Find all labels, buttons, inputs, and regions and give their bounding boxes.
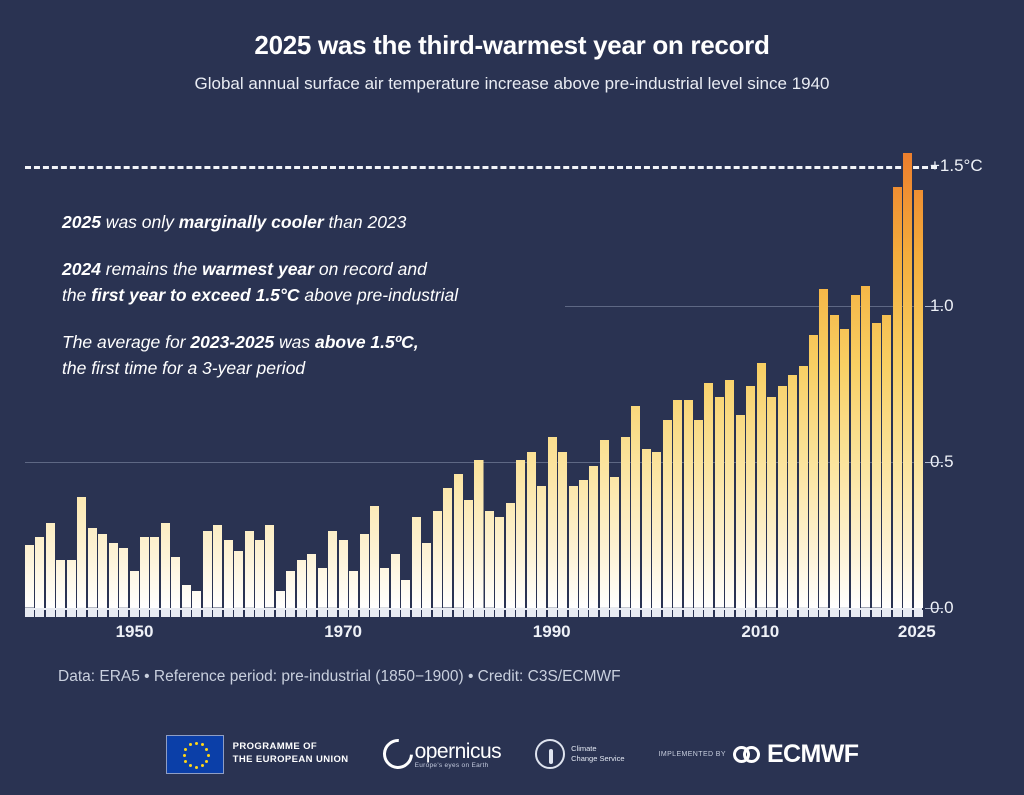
bar-1948 (109, 543, 118, 608)
bar-1993 (579, 480, 588, 608)
bar-1970 (339, 540, 348, 608)
x-tick-1994 (589, 610, 598, 617)
ecmwf-wordmark: ECMWF (767, 740, 858, 769)
bar-2002 (673, 400, 682, 608)
x-tick-1957 (203, 610, 212, 617)
x-tick-2018 (840, 610, 849, 617)
page-title: 2025 was the third-warmest year on recor… (0, 30, 1024, 61)
bar-1987 (516, 460, 525, 608)
x-tick-1940 (25, 610, 34, 617)
bar-2019 (851, 295, 860, 608)
x-tick-1978 (422, 610, 431, 617)
annotation-block: 2025 was only marginally cooler than 202… (62, 210, 582, 381)
x-tick-2014 (799, 610, 808, 617)
bar-1983 (474, 460, 483, 608)
bar-1991 (558, 452, 567, 609)
x-tick-2015 (809, 610, 818, 617)
x-tick-1975 (391, 610, 400, 617)
x-tick-2017 (830, 610, 839, 617)
x-tick-1972 (360, 610, 369, 617)
bar-1947 (98, 534, 107, 608)
bar-2017 (830, 315, 839, 608)
bar-1997 (621, 437, 630, 608)
x-tick-1961 (245, 610, 254, 617)
chart-header: 2025 was the third-warmest year on recor… (0, 0, 1024, 94)
x-axis-label-1990: 1990 (533, 622, 571, 642)
x-tick-1944 (67, 610, 76, 617)
bar-1979 (433, 511, 442, 608)
x-tick-1953 (161, 610, 170, 617)
bar-1969 (328, 531, 337, 608)
x-tick-1946 (88, 610, 97, 617)
bar-2018 (840, 329, 849, 608)
ecmwf-rings-icon (733, 746, 760, 763)
bar-1962 (255, 540, 264, 608)
x-tick-1960 (234, 610, 243, 617)
x-tick-1987 (516, 610, 525, 617)
x-tick-1966 (297, 610, 306, 617)
bar-2010 (757, 363, 766, 608)
bar-1952 (150, 537, 159, 608)
x-tick-1949 (119, 610, 128, 617)
bar-1999 (642, 449, 651, 608)
bar-1978 (422, 543, 431, 608)
bar-2021 (872, 323, 881, 608)
copernicus-logo: opernicus Europe's eyes on Earth (383, 739, 502, 769)
bar-1944 (67, 560, 76, 608)
bar-2003 (684, 400, 693, 608)
bar-1980 (443, 488, 452, 608)
x-tick-1964 (276, 610, 285, 617)
bar-1981 (454, 474, 463, 608)
note-2025: 2025 was only marginally cooler than 202… (62, 210, 582, 235)
x-tick-2004 (694, 610, 703, 617)
eu-logo-line1: PROGRAMME OF (233, 741, 349, 754)
bar-1949 (119, 548, 128, 608)
bar-1950 (130, 571, 139, 608)
y-tick-mark-1 (925, 306, 943, 307)
bar-2020 (861, 286, 870, 608)
x-tick-1970 (339, 610, 348, 617)
x-tick-1941 (35, 610, 44, 617)
bar-2025 (914, 190, 923, 608)
bar-2024 (903, 153, 912, 608)
x-tick-1947 (98, 610, 107, 617)
x-tick-2023 (893, 610, 902, 617)
y-axis-label-1.5: +1.5°C (930, 156, 983, 176)
x-tick-1955 (182, 610, 191, 617)
x-tick-2025 (914, 610, 923, 617)
bar-1984 (485, 511, 494, 608)
x-tick-1965 (286, 610, 295, 617)
x-tick-1976 (401, 610, 410, 617)
x-tick-1981 (454, 610, 463, 617)
x-tick-1985 (495, 610, 504, 617)
copernicus-arc-icon (376, 733, 418, 775)
bar-1943 (56, 560, 65, 608)
x-tick-1990 (548, 610, 557, 617)
x-tick-2020 (861, 610, 870, 617)
bar-2005 (704, 383, 713, 608)
x-axis-ticks (25, 610, 922, 618)
x-tick-1971 (349, 610, 358, 617)
x-tick-1982 (464, 610, 473, 617)
x-tick-2005 (704, 610, 713, 617)
y-tick-mark-0 (925, 608, 943, 609)
bar-1971 (349, 571, 358, 608)
bar-1955 (182, 585, 191, 608)
bar-1957 (203, 531, 212, 608)
c3s-logo: Climate Change Service (535, 739, 624, 769)
x-tick-1948 (109, 610, 118, 617)
x-tick-1950 (130, 610, 139, 617)
c3s-thermometer-icon (535, 739, 565, 769)
bar-1946 (88, 528, 97, 608)
x-tick-1998 (631, 610, 640, 617)
x-tick-2007 (725, 610, 734, 617)
bar-1965 (286, 571, 295, 608)
x-tick-1977 (412, 610, 421, 617)
x-axis-label-2025: 2025 (898, 622, 936, 642)
ecmwf-logo: IMPLEMENTED BY ECMWF (659, 740, 859, 769)
bar-2006 (715, 397, 724, 608)
bar-1956 (192, 591, 201, 608)
bar-1988 (527, 452, 536, 609)
bar-1961 (245, 531, 254, 608)
x-tick-1991 (558, 610, 567, 617)
c3s-line1: Climate (571, 744, 624, 754)
logo-bar: PROGRAMME OF THE EUROPEAN UNION opernicu… (0, 728, 1024, 780)
page-subtitle: Global annual surface air temperature in… (0, 74, 1024, 94)
bar-1942 (46, 523, 55, 608)
bar-1964 (276, 591, 285, 608)
x-tick-1943 (56, 610, 65, 617)
x-tick-1969 (328, 610, 337, 617)
x-axis-label-2010: 2010 (741, 622, 779, 642)
bar-1995 (600, 440, 609, 608)
x-tick-1959 (224, 610, 233, 617)
bar-1972 (360, 534, 369, 608)
x-tick-2024 (903, 610, 912, 617)
bar-1940 (25, 545, 34, 608)
bar-1976 (401, 580, 410, 608)
bar-1968 (318, 568, 327, 608)
x-tick-1962 (255, 610, 264, 617)
x-tick-1997 (621, 610, 630, 617)
bar-1967 (307, 554, 316, 608)
bar-1959 (224, 540, 233, 608)
x-tick-2002 (673, 610, 682, 617)
x-tick-1954 (171, 610, 180, 617)
x-tick-2012 (778, 610, 787, 617)
bar-2022 (882, 315, 891, 608)
bar-2011 (767, 397, 776, 608)
x-tick-1984 (485, 610, 494, 617)
bar-1992 (569, 486, 578, 608)
x-tick-1988 (527, 610, 536, 617)
x-tick-1980 (443, 610, 452, 617)
bar-2016 (819, 289, 828, 608)
y-tick-mark-0.5 (925, 462, 943, 463)
x-tick-2021 (872, 610, 881, 617)
bar-1958 (213, 525, 222, 608)
x-axis-label-1970: 1970 (324, 622, 362, 642)
bar-1985 (495, 517, 504, 608)
x-tick-2019 (851, 610, 860, 617)
bar-1989 (537, 486, 546, 608)
x-tick-1942 (46, 610, 55, 617)
implemented-by-label: IMPLEMENTED BY (659, 751, 726, 758)
bar-2013 (788, 375, 797, 608)
bar-1974 (380, 568, 389, 608)
x-axis-label-1950: 1950 (116, 622, 154, 642)
x-tick-2001 (663, 610, 672, 617)
bar-1951 (140, 537, 149, 608)
copernicus-tagline: Europe's eyes on Earth (415, 762, 502, 769)
x-tick-2010 (757, 610, 766, 617)
x-tick-2008 (736, 610, 745, 617)
bar-2009 (746, 386, 755, 608)
note-2024: 2024 remains the warmest year on record … (62, 257, 582, 308)
c3s-line2: Change Service (571, 754, 624, 764)
bar-1954 (171, 557, 180, 608)
bar-2000 (652, 452, 661, 609)
bar-2001 (663, 420, 672, 608)
x-tick-1983 (474, 610, 483, 617)
x-tick-1963 (265, 610, 274, 617)
x-tick-1979 (433, 610, 442, 617)
x-tick-1986 (506, 610, 515, 617)
note-average: The average for 2023-2025 was above 1.5º… (62, 330, 582, 381)
copernicus-wordmark: opernicus (415, 740, 502, 764)
bar-1990 (548, 437, 557, 608)
source-credit: Data: ERA5 • Reference period: pre-indus… (58, 668, 621, 686)
bar-2007 (725, 380, 734, 608)
eu-logo: PROGRAMME OF THE EUROPEAN UNION (166, 735, 349, 774)
bar-1953 (161, 523, 170, 608)
x-tick-2000 (652, 610, 661, 617)
x-tick-2009 (746, 610, 755, 617)
bar-2008 (736, 415, 745, 609)
eu-logo-line2: THE EUROPEAN UNION (233, 754, 349, 767)
x-tick-2016 (819, 610, 828, 617)
bar-1973 (370, 506, 379, 608)
bar-1996 (610, 477, 619, 608)
bar-1945 (77, 497, 86, 608)
x-tick-1967 (307, 610, 316, 617)
bar-2004 (694, 420, 703, 608)
x-tick-1956 (192, 610, 201, 617)
x-tick-1999 (642, 610, 651, 617)
x-tick-1989 (537, 610, 546, 617)
x-tick-2013 (788, 610, 797, 617)
bar-1941 (35, 537, 44, 608)
x-tick-1968 (318, 610, 327, 617)
x-tick-2003 (684, 610, 693, 617)
x-tick-2006 (715, 610, 724, 617)
eu-flag-icon (166, 735, 224, 774)
bar-1994 (589, 466, 598, 608)
bar-1966 (297, 560, 306, 608)
bar-1975 (391, 554, 400, 608)
x-tick-1951 (140, 610, 149, 617)
bar-1963 (265, 525, 274, 608)
bar-1960 (234, 551, 243, 608)
x-tick-1992 (569, 610, 578, 617)
x-tick-1945 (77, 610, 86, 617)
x-tick-1995 (600, 610, 609, 617)
x-tick-1974 (380, 610, 389, 617)
bar-1986 (506, 503, 515, 608)
bar-2023 (893, 187, 902, 608)
x-tick-1993 (579, 610, 588, 617)
bar-1998 (631, 406, 640, 608)
x-tick-1952 (150, 610, 159, 617)
bar-1977 (412, 517, 421, 608)
x-tick-1973 (370, 610, 379, 617)
x-tick-2011 (767, 610, 776, 617)
x-tick-1958 (213, 610, 222, 617)
bar-2014 (799, 366, 808, 608)
x-tick-1996 (610, 610, 619, 617)
bar-1982 (464, 500, 473, 608)
bar-2012 (778, 386, 787, 608)
x-tick-2022 (882, 610, 891, 617)
eu-logo-text: PROGRAMME OF THE EUROPEAN UNION (233, 741, 349, 767)
bar-2015 (809, 335, 818, 608)
